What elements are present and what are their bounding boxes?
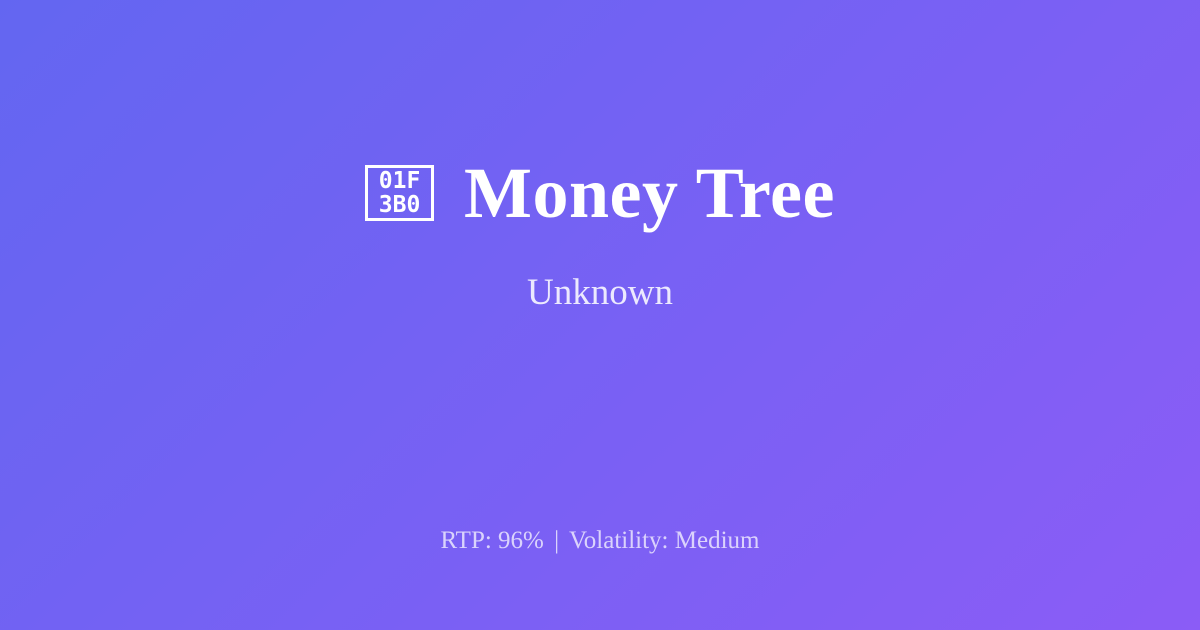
game-stats: RTP: 96% | Volatility: Medium [0, 527, 1200, 555]
codepoint-top: 01F [379, 169, 421, 193]
slot-machine-icon: 01F 3B0 [365, 165, 434, 221]
headline: 01F 3B0 Money Tree [365, 157, 835, 229]
rtp-value: 96% [498, 527, 544, 554]
rtp-label: RTP: [441, 527, 492, 554]
page-title: Money Tree [464, 157, 835, 229]
title-block: 01F 3B0 Money Tree Unknown [0, 0, 1200, 470]
og-preview-card: 01F 3B0 Money Tree Unknown RTP: 96% | Vo… [0, 0, 1200, 630]
volatility-value: Medium [675, 527, 760, 554]
provider-label: Unknown [527, 271, 673, 314]
volatility-label: Volatility: [569, 527, 669, 554]
codepoint-bottom: 3B0 [379, 193, 421, 217]
stats-separator: | [550, 527, 563, 554]
